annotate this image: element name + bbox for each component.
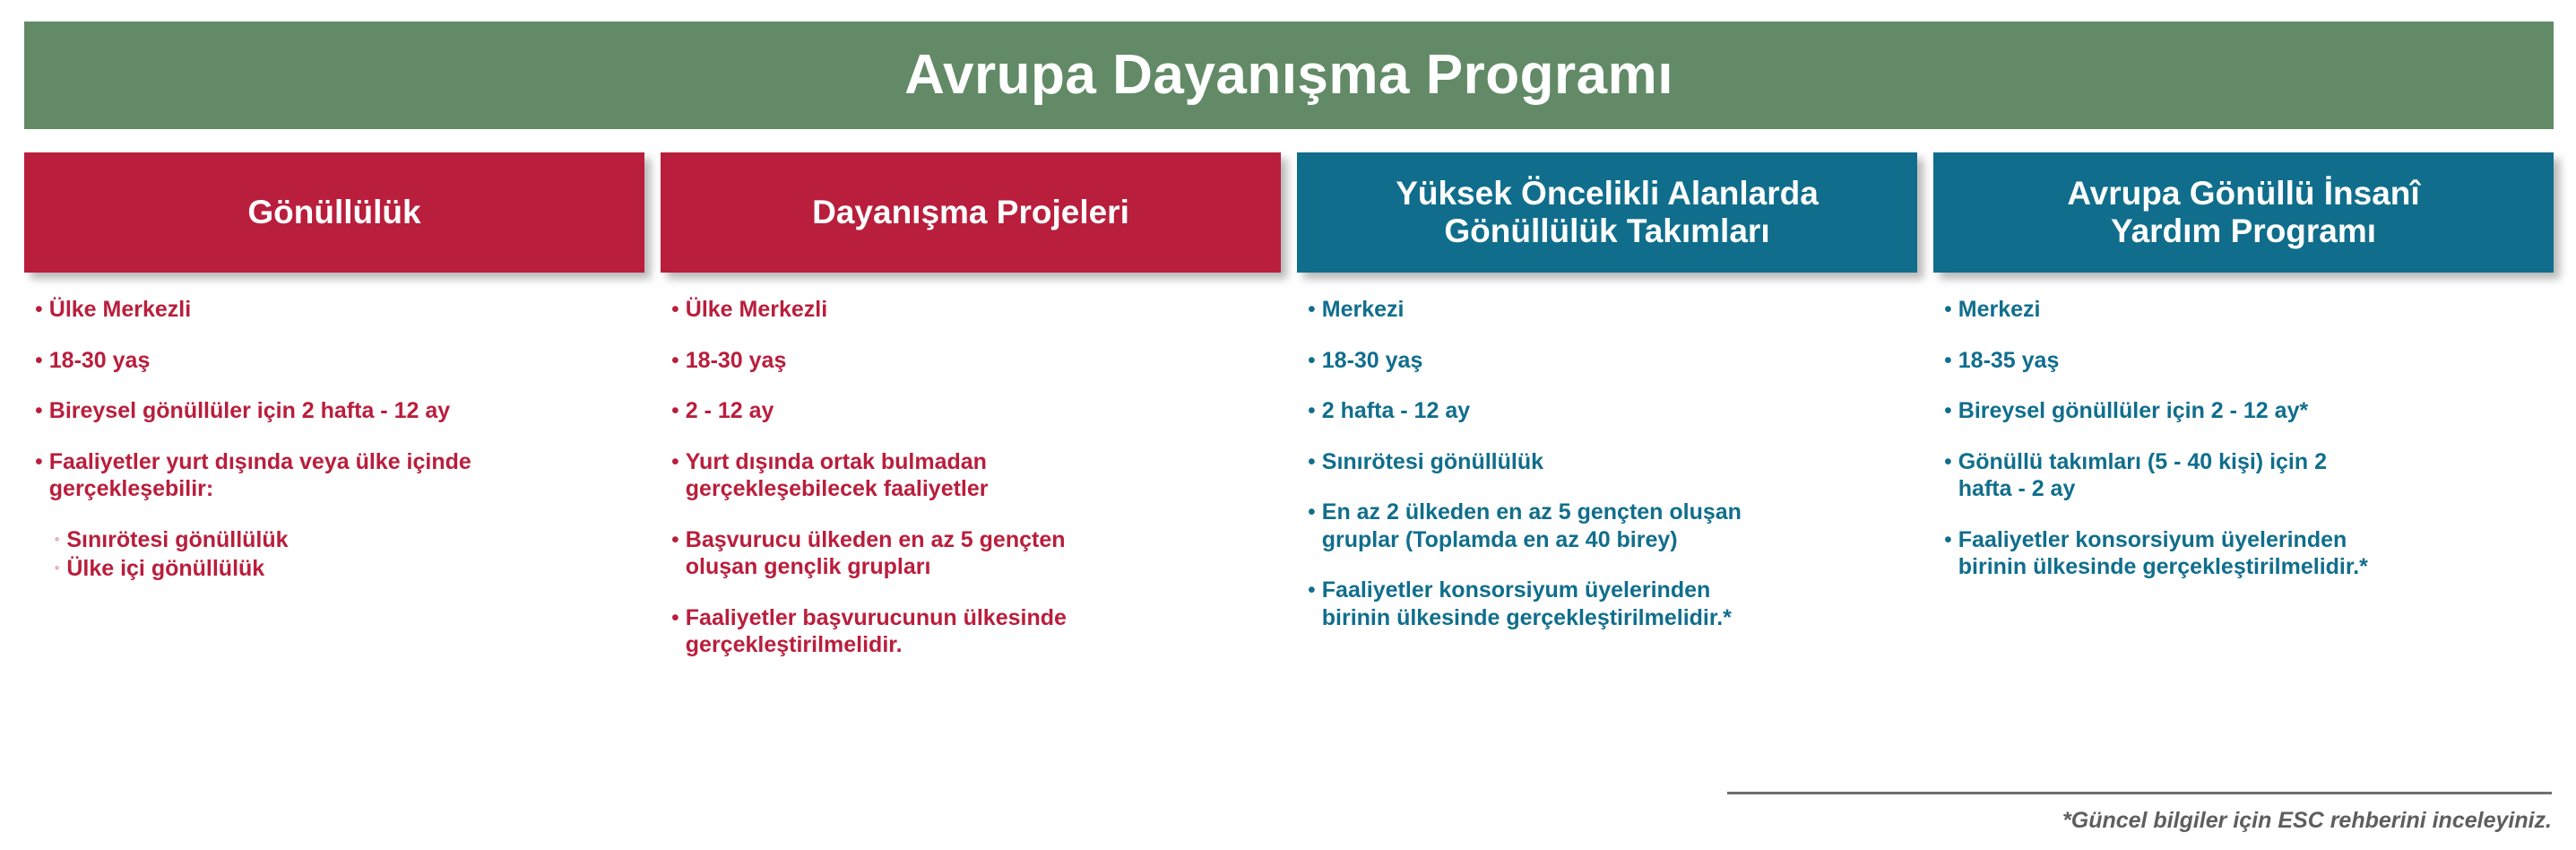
bullet-row: •Faaliyetler başvurucunun ülkesinde gerç…: [671, 604, 1272, 659]
bullet-dot-icon: •: [671, 347, 686, 375]
title-banner: Avrupa Dayanışma Programı: [24, 22, 2554, 129]
bullet-row: •Sınırötesi gönüllülük: [1308, 448, 1908, 476]
bullet-item: •Faaliyetler yurt dışında veya ülke için…: [35, 448, 635, 583]
bullet-label: Bireysel gönüllüler için 2 - 12 ay*: [1958, 397, 2308, 425]
bullet-row: •18-30 yaş: [35, 347, 635, 375]
bullet-item: •18-30 yaş: [671, 347, 1272, 375]
column-header[interactable]: Dayanışma Projeleri: [661, 152, 1281, 273]
bullet-row: •Yurt dışında ortak bulmadan gerçekleşeb…: [671, 448, 1272, 503]
bullet-dot-icon: •: [671, 296, 686, 324]
bullet-item: •Gönüllü takımları (5 - 40 kişi) için 2 …: [1944, 448, 2545, 503]
bullet-dot-icon: •: [35, 347, 49, 375]
page-title: Avrupa Dayanışma Programı: [904, 48, 1673, 103]
bullet-dot-icon: •: [35, 296, 49, 324]
bullet-dot-icon: •: [1308, 397, 1322, 425]
bullet-label: Faaliyetler konsorsiyum üyelerinden biri…: [1322, 577, 1732, 631]
footnote-text: *Güncel bilgiler için ESC rehberini ince…: [1727, 807, 2552, 834]
bullet-row: •2 hafta - 12 ay: [1308, 397, 1908, 425]
bullet-dot-icon: •: [1308, 448, 1322, 476]
sub-bullet-list: ◦Sınırötesi gönüllülük◦Ülke içi gönüllül…: [35, 526, 635, 583]
bullet-label: Faaliyetler başvurucunun ülkesinde gerçe…: [686, 604, 1067, 659]
bullet-label: 18-30 yaş: [49, 347, 151, 375]
column-header[interactable]: Gönüllülük: [24, 152, 644, 273]
bullet-item: •Yurt dışında ortak bulmadan gerçekleşeb…: [671, 448, 1272, 503]
column-header[interactable]: Yüksek Öncelikli Alanlarda Gönüllülük Ta…: [1297, 152, 1917, 273]
bullet-row: •Bireysel gönüllüler için 2 - 12 ay*: [1944, 397, 2545, 425]
bullet-item: •Bireysel gönüllüler için 2 - 12 ay*: [1944, 397, 2545, 425]
bullet-item: •Ülke Merkezli: [671, 296, 1272, 324]
column-body: •Ülke Merkezli•18-30 yaş•Bireysel gönüll…: [24, 273, 644, 744]
sub-bullet-circle-icon: ◦: [55, 526, 66, 553]
bullet-dot-icon: •: [1308, 499, 1322, 526]
bullet-dot-icon: •: [671, 604, 686, 632]
column-body: •Merkezi•18-30 yaş•2 hafta - 12 ay•Sınır…: [1297, 273, 1917, 744]
bullet-label: Ülke Merkezli: [49, 296, 191, 324]
bullet-item: •18-30 yaş: [1308, 347, 1908, 375]
bullet-label: Sınırötesi gönüllülük: [1322, 448, 1543, 476]
column-header-label: Gönüllülük: [247, 194, 420, 231]
bullet-row: •Ülke Merkezli: [671, 296, 1272, 324]
bullet-item: •Merkezi: [1944, 296, 2545, 324]
bullet-label: Faaliyetler yurt dışında veya ülke içind…: [49, 448, 471, 503]
bullet-label: Merkezi: [1958, 296, 2041, 324]
bullet-row: •Bireysel gönüllüler için 2 hafta - 12 a…: [35, 397, 635, 425]
sub-bullet-item: ◦Ülke içi gönüllülük: [35, 555, 635, 583]
bullet-item: •18-30 yaş: [35, 347, 635, 375]
bullet-label: Yurt dışında ortak bulmadan gerçekleşebi…: [686, 448, 989, 503]
column-body: •Merkezi•18-35 yaş•Bireysel gönüllüler i…: [1933, 273, 2554, 744]
bullet-dot-icon: •: [1944, 296, 1958, 324]
sub-bullet-item: ◦Sınırötesi gönüllülük: [35, 526, 635, 554]
bullet-row: •Gönüllü takımları (5 - 40 kişi) için 2 …: [1944, 448, 2545, 503]
bullet-dot-icon: •: [1944, 347, 1958, 375]
bullet-dot-icon: •: [35, 397, 49, 425]
bullet-dot-icon: •: [671, 448, 686, 476]
bullet-label: Gönüllü takımları (5 - 40 kişi) için 2 h…: [1958, 448, 2327, 503]
bullet-label: 18-35 yaş: [1958, 347, 2060, 375]
bullet-row: •Başvurucu ülkeden en az 5 gençten oluşa…: [671, 526, 1272, 581]
sub-bullet-label: Ülke içi gönüllülük: [66, 555, 264, 583]
bullet-dot-icon: •: [1944, 526, 1958, 554]
bullet-item: •Faaliyetler konsorsiyum üyelerinden bir…: [1308, 577, 1908, 631]
bullet-item: •2 hafta - 12 ay: [1308, 397, 1908, 425]
bullet-label: 2 - 12 ay: [686, 397, 774, 425]
bullet-item: •Faaliyetler konsorsiyum üyelerinden bir…: [1944, 526, 2545, 581]
bullet-item: •Merkezi: [1308, 296, 1908, 324]
bullet-item: •En az 2 ülkeden en az 5 gençten oluşan …: [1308, 499, 1908, 553]
column-header-label: Dayanışma Projeleri: [812, 194, 1129, 231]
bullet-row: •18-30 yaş: [1308, 347, 1908, 375]
sub-bullet-circle-icon: ◦: [55, 555, 66, 582]
bullet-label: Merkezi: [1322, 296, 1405, 324]
bullet-row: •2 - 12 ay: [671, 397, 1272, 425]
bullet-dot-icon: •: [35, 448, 49, 476]
bullet-dot-icon: •: [1944, 448, 1958, 476]
bullet-label: Ülke Merkezli: [686, 296, 827, 324]
bullet-row: •18-30 yaş: [671, 347, 1272, 375]
program-columns: Gönüllülük•Ülke Merkezli•18-30 yaş•Birey…: [24, 152, 2554, 744]
bullet-item: •Başvurucu ülkeden en az 5 gençten oluşa…: [671, 526, 1272, 581]
footnote-divider: [1727, 792, 2552, 794]
bullet-label: En az 2 ülkeden en az 5 gençten oluşan g…: [1322, 499, 1742, 553]
column-header[interactable]: Avrupa Gönüllü İnsanî Yardım Programı: [1933, 152, 2554, 273]
sub-bullet-label: Sınırötesi gönüllülük: [66, 526, 288, 554]
bullet-row: •Ülke Merkezli: [35, 296, 635, 324]
footnote-block: *Güncel bilgiler için ESC rehberini ince…: [1727, 792, 2552, 834]
bullet-label: 18-30 yaş: [1322, 347, 1423, 375]
bullet-dot-icon: •: [671, 397, 686, 425]
program-column: Yüksek Öncelikli Alanlarda Gönüllülük Ta…: [1297, 152, 1917, 744]
bullet-label: 2 hafta - 12 ay: [1322, 397, 1470, 425]
bullet-item: •18-35 yaş: [1944, 347, 2545, 375]
bullet-row: •Faaliyetler yurt dışında veya ülke için…: [35, 448, 635, 503]
bullet-dot-icon: •: [671, 526, 686, 554]
bullet-row: •18-35 yaş: [1944, 347, 2545, 375]
bullet-row: •Merkezi: [1944, 296, 2545, 324]
bullet-dot-icon: •: [1308, 296, 1322, 324]
column-header-label: Avrupa Gönüllü İnsanî Yardım Programı: [2067, 175, 2419, 250]
program-column: Dayanışma Projeleri•Ülke Merkezli•18-30 …: [661, 152, 1281, 744]
bullet-row: •Faaliyetler konsorsiyum üyelerinden bir…: [1944, 526, 2545, 581]
bullet-item: •Faaliyetler başvurucunun ülkesinde gerç…: [671, 604, 1272, 659]
bullet-item: •Ülke Merkezli: [35, 296, 635, 324]
column-header-label: Yüksek Öncelikli Alanlarda Gönüllülük Ta…: [1396, 175, 1819, 250]
infographic-page: Avrupa Dayanışma Programı Gönüllülük•Ülk…: [0, 0, 2576, 850]
bullet-item: •Sınırötesi gönüllülük: [1308, 448, 1908, 476]
bullet-label: 18-30 yaş: [686, 347, 787, 375]
bullet-row: •Merkezi: [1308, 296, 1908, 324]
bullet-row: •Faaliyetler konsorsiyum üyelerinden bir…: [1308, 577, 1908, 631]
program-column: Gönüllülük•Ülke Merkezli•18-30 yaş•Birey…: [24, 152, 644, 744]
column-body: •Ülke Merkezli•18-30 yaş•2 - 12 ay•Yurt …: [661, 273, 1281, 744]
bullet-label: Faaliyetler konsorsiyum üyelerinden biri…: [1958, 526, 2368, 581]
bullet-row: •En az 2 ülkeden en az 5 gençten oluşan …: [1308, 499, 1908, 553]
bullet-dot-icon: •: [1944, 397, 1958, 425]
bullet-item: •2 - 12 ay: [671, 397, 1272, 425]
bullet-dot-icon: •: [1308, 577, 1322, 604]
bullet-dot-icon: •: [1308, 347, 1322, 375]
bullet-label: Bireysel gönüllüler için 2 hafta - 12 ay: [49, 397, 450, 425]
bullet-item: •Bireysel gönüllüler için 2 hafta - 12 a…: [35, 397, 635, 425]
program-column: Avrupa Gönüllü İnsanî Yardım Programı•Me…: [1933, 152, 2554, 744]
bullet-label: Başvurucu ülkeden en az 5 gençten oluşan…: [686, 526, 1066, 581]
